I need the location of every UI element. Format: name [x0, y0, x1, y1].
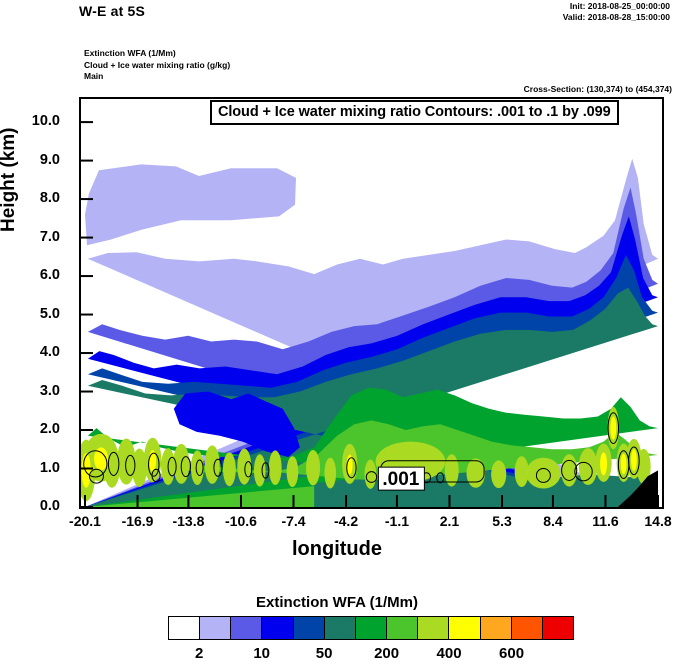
variable-mixing-ratio: Cloud + Ice water mixing ratio (g/kg)	[84, 60, 230, 72]
cross-section-label: Cross-Section: (130,374) to (454,374)	[524, 84, 672, 94]
init-time-label: Init: 2018-08-25_00:00:00	[570, 1, 670, 12]
y-tick-label: 2.0	[0, 421, 60, 437]
extinction-cell	[466, 459, 485, 488]
colorbar-tick-label: 50	[294, 645, 354, 662]
colorbar-swatch	[387, 617, 418, 639]
variable-list: Extinction WFA (1/Mm) Cloud + Ice water …	[84, 48, 230, 83]
extinction-core	[610, 417, 616, 440]
colorbar-tick-label: 200	[357, 645, 417, 662]
extinction-core	[81, 453, 90, 488]
contour-inline-label: .001	[378, 467, 424, 490]
colorbar-swatch	[356, 617, 387, 639]
y-axis-title: Height (km)	[0, 128, 20, 233]
extinction-core	[600, 452, 607, 475]
extinction-cell	[324, 458, 336, 489]
colorbar-swatch	[481, 617, 512, 639]
colorbar-title: Extinction WFA (1/Mm)	[0, 594, 674, 611]
extinction-cell	[254, 454, 266, 486]
y-tick-label: 3.0	[0, 383, 60, 399]
colorbar-swatch	[418, 617, 449, 639]
contour-field: .001	[81, 99, 662, 507]
colorbar-swatch	[169, 617, 200, 639]
y-tick-label: 1.0	[0, 460, 60, 476]
y-tick-label: 7.0	[0, 229, 60, 245]
contour-title-box: Cloud + Ice water mixing ratio Contours:…	[210, 100, 619, 125]
cross-section-plot: .001	[79, 97, 664, 509]
colorbar-tick-label: 2	[169, 645, 229, 662]
extinction-cell	[365, 460, 377, 489]
y-tick-label: 5.0	[0, 306, 60, 322]
y-tick-label: 9.0	[0, 152, 60, 168]
y-tick-label: 8.0	[0, 190, 60, 206]
colorbar-tick-label: 600	[482, 645, 542, 662]
colorbar-swatch	[449, 617, 480, 639]
extinction-cell	[205, 445, 220, 483]
valid-time-label: Valid: 2018-08-28_15:00:00	[563, 12, 670, 23]
colorbar-tick-label: 400	[419, 645, 479, 662]
extinction-cell	[269, 450, 282, 485]
y-tick-label: 10.0	[0, 113, 60, 129]
extinction-cell	[526, 458, 561, 489]
y-tick-label: 4.0	[0, 344, 60, 360]
page-title: W-E at 5S	[79, 3, 145, 19]
extinction-core	[621, 454, 627, 474]
colorbar-swatch	[543, 617, 573, 639]
colorbar-swatch	[294, 617, 325, 639]
extinction-cell	[306, 450, 320, 485]
extinction-cell	[191, 450, 204, 485]
colorbar-swatch	[325, 617, 356, 639]
x-tick-label: 14.8	[623, 513, 674, 529]
variable-domain: Main	[84, 71, 230, 83]
extinction-core	[631, 449, 637, 471]
colorbar-tick-label: 10	[232, 645, 292, 662]
x-axis-title: longitude	[0, 538, 674, 561]
y-tick-label: 6.0	[0, 267, 60, 283]
extinction-cell	[237, 448, 251, 484]
y-tick-label: 0.0	[0, 498, 60, 514]
extinction-cell	[287, 456, 299, 487]
colorbar-swatch	[200, 617, 231, 639]
svg-text:.001: .001	[382, 469, 419, 490]
extinction-cell	[223, 452, 236, 486]
colorbar-swatch	[231, 617, 262, 639]
colorbar	[168, 616, 574, 640]
extinction-cell	[491, 460, 506, 488]
colorbar-swatch	[262, 617, 293, 639]
variable-extinction: Extinction WFA (1/Mm)	[84, 48, 230, 60]
colorbar-swatch	[512, 617, 543, 639]
